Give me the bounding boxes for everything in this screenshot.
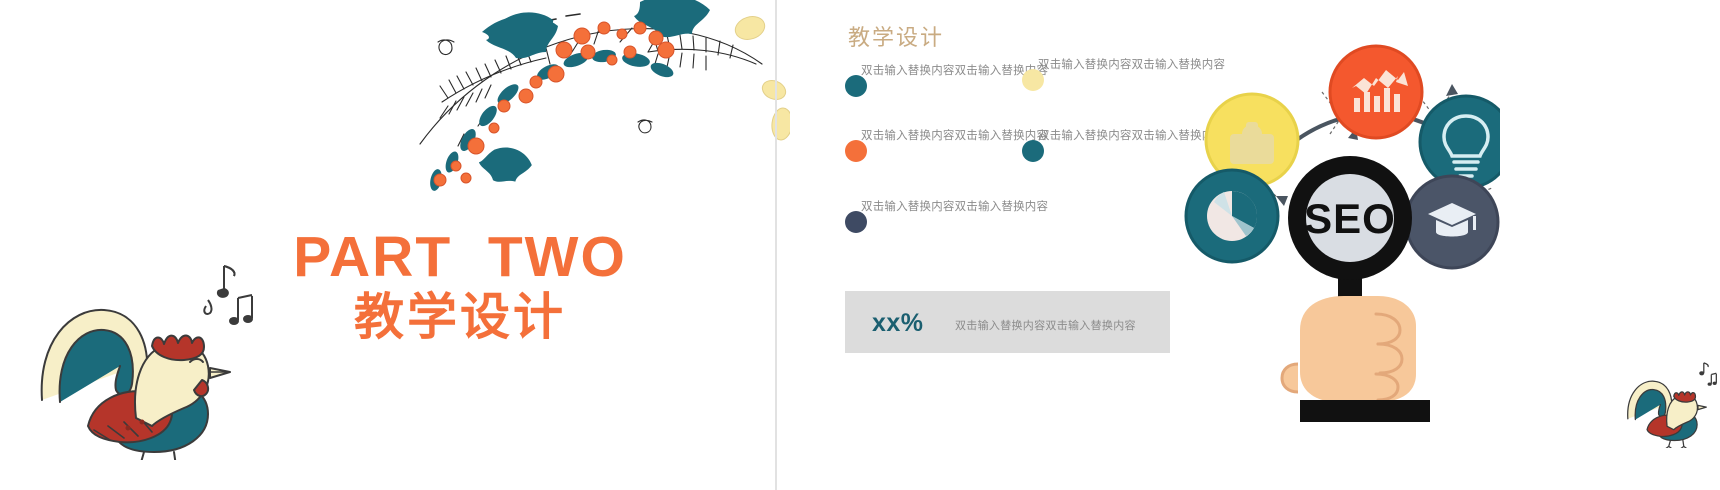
page-title: PART TWO — [230, 228, 690, 288]
node-lightbulb — [1420, 96, 1500, 188]
bullet-text-5: 双击输入替换内容双击输入替换内容 — [861, 199, 1051, 216]
floral-wreath-decoration — [390, 0, 790, 194]
bullet-text-3: 双击输入替换内容双击输入替换内容 — [861, 128, 1051, 145]
seo-magnifier: SEO — [1288, 156, 1412, 348]
slide-canvas: PART TWO 教学设计 — [0, 0, 1720, 490]
stat-value: xx% — [872, 309, 924, 338]
node-growth-chart — [1330, 46, 1422, 138]
node-pie-chart — [1186, 170, 1278, 262]
page-subtitle: 教学设计 — [230, 290, 690, 345]
bullet-text-4: 双击输入替换内容双击输入替换内容 — [1038, 128, 1228, 145]
stat-description: 双击输入替换内容双击输入替换内容 — [955, 317, 1136, 333]
bullet-text-2: 双击输入替换内容双击输入替换内容 — [1038, 57, 1228, 74]
hand-illustration — [1282, 296, 1430, 422]
seo-infographic: SEO — [1180, 30, 1500, 430]
section-heading: 教学设计 — [848, 20, 944, 52]
stat-box: xx% 双击输入替换内容双击输入替换内容 — [845, 291, 1170, 353]
panel-divider — [775, 0, 777, 490]
rooster-illustration-small — [1622, 352, 1718, 448]
node-graduation-cap — [1406, 176, 1498, 268]
seo-label: SEO — [1304, 195, 1396, 242]
rooster-illustration — [28, 250, 258, 460]
